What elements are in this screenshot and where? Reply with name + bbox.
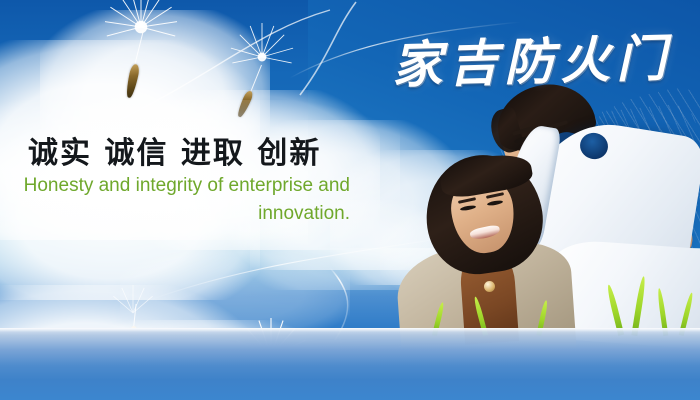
people-photo bbox=[400, 95, 700, 345]
pappus-icon bbox=[225, 20, 299, 94]
woman-necklace bbox=[484, 281, 495, 292]
slogan-chinese: 诚实 诚信 进取 创新 bbox=[28, 128, 321, 172]
dandelion-seed bbox=[96, 0, 186, 72]
bottom-blue-band bbox=[0, 328, 700, 400]
brand-calligraphy: 家吉防火门 bbox=[391, 18, 673, 97]
band-highlight bbox=[0, 328, 700, 332]
slogan-english: Honesty and integrity of enterprise and … bbox=[4, 172, 350, 227]
promo-banner: 家吉防火门 诚实 诚信 进取 创新 Honesty and integrity … bbox=[0, 0, 700, 400]
dandelion-seed bbox=[225, 20, 299, 94]
